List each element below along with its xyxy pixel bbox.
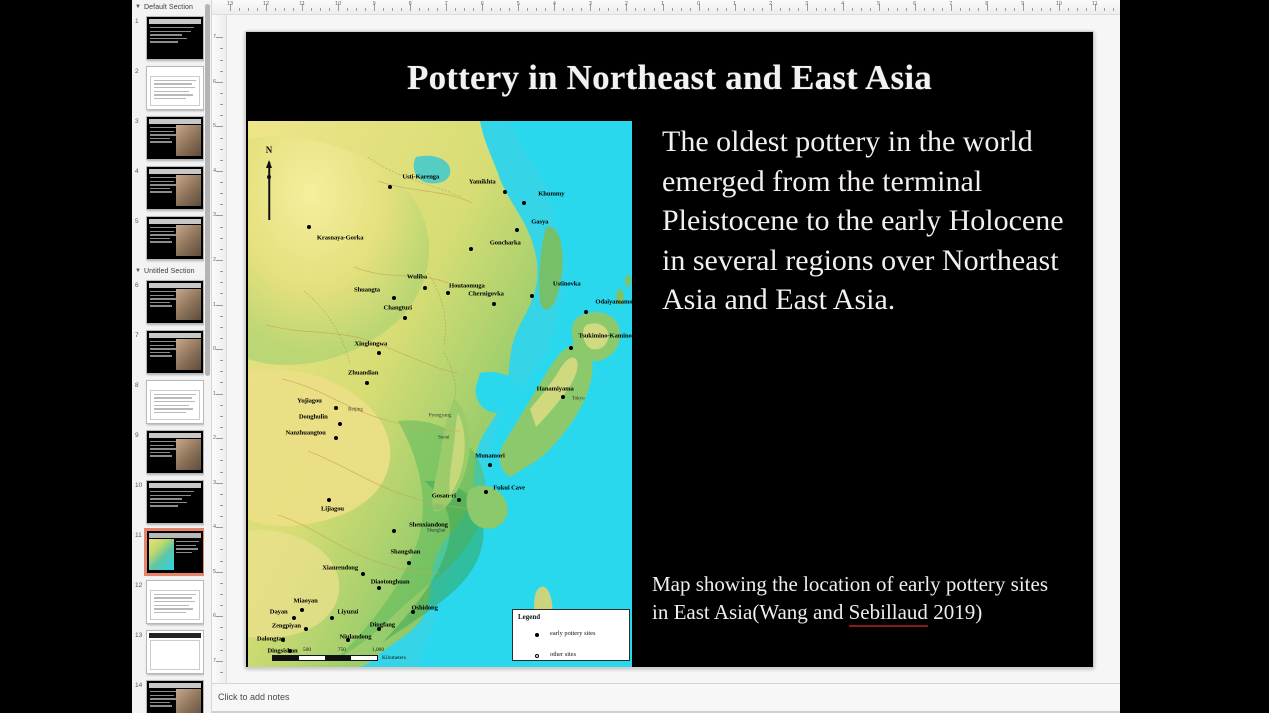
map-site-marker (522, 201, 526, 205)
slide-number: 4 (135, 168, 139, 175)
legend-entry-other-sites: other sites (532, 645, 624, 663)
slide-number: 7 (135, 332, 139, 339)
scale-bar-labels: 500 750 1,000 (272, 647, 378, 655)
slide-thumbnail-row[interactable]: 11 (132, 528, 211, 578)
slide-number: 2 (135, 68, 139, 75)
slide-canvas-area[interactable]: Pottery in Northeast and East Asia (227, 15, 1120, 683)
slide-thumbnail-row[interactable]: 13 (132, 628, 211, 678)
ruler-label: 7 (213, 658, 216, 664)
map-site-label: Yamikhta (469, 179, 496, 186)
slide-thumbnail-row[interactable]: 7 (132, 328, 211, 378)
navigator-scrollbar-thumb[interactable] (205, 4, 210, 376)
map-site-marker (388, 185, 392, 189)
slide-thumbnail-11[interactable] (146, 530, 204, 574)
ruler-label: 4 (213, 168, 216, 174)
ruler-label: 0 (213, 346, 216, 352)
caption-misspelled-word: Sebillaud (849, 600, 928, 627)
map-site-label: Diaotonghuan (371, 579, 410, 586)
map-site-label: Fukui Cave (493, 485, 525, 492)
map-site-label: Tsukimino-Kamino (579, 333, 632, 340)
map-site-label: Niulandong (340, 633, 372, 640)
slide-number: 11 (135, 532, 142, 539)
scale-bar-unit: Kilometers (382, 655, 406, 661)
slide-number: 9 (135, 432, 139, 439)
map-site-marker (327, 498, 331, 502)
presentation-app-window: ▼Default Section12345▼Untitled Section67… (132, 0, 1120, 713)
notes-placeholder-text[interactable]: Click to add notes (218, 692, 290, 702)
slide-body-text[interactable]: The oldest pottery in the world emerged … (662, 122, 1072, 320)
ruler-label: 5 (877, 1, 880, 7)
ruler-label: 5 (517, 1, 520, 7)
map-city-label: Tokyo (572, 397, 585, 402)
ruler-label: 5 (213, 569, 216, 575)
map-site-marker (300, 608, 304, 612)
map-site-label: Xinglongwa (355, 340, 388, 347)
slide-canvas[interactable]: Pottery in Northeast and East Asia (245, 31, 1094, 668)
map-site-label: Munamori (475, 452, 505, 459)
slide-number: 14 (135, 682, 142, 689)
ruler-label: 11 (1092, 1, 1098, 7)
map-site-marker (334, 436, 338, 440)
slide-thumbnail-13[interactable] (146, 630, 204, 674)
ruler-label: 10 (1056, 1, 1062, 7)
map-site-marker (361, 572, 365, 576)
map-site-marker (492, 302, 496, 306)
map-site-label: Donghulin (299, 414, 328, 421)
slide-thumbnail-row[interactable]: 6 (132, 278, 211, 328)
ruler-label: 3 (589, 1, 592, 7)
map-site-label: Wuliba (407, 274, 427, 281)
slide-thumbnail-row[interactable]: 14 (132, 678, 211, 713)
scale-label: 750 (338, 647, 346, 653)
map-site-marker (469, 247, 473, 251)
map-city-label: Shanghai (427, 528, 446, 533)
map-site-label: Miaoyan (293, 598, 317, 605)
horizontal-ruler[interactable]: 13121110987654321012345678910111213 (212, 0, 1120, 15)
slide-thumbnail-12[interactable] (146, 580, 204, 624)
map-site-label: Liyuzui (337, 609, 358, 616)
map-site-label: Yujiagou (297, 397, 322, 404)
slide-number: 3 (135, 118, 139, 125)
map-site-marker (338, 422, 342, 426)
slide-thumbnail-2[interactable] (146, 66, 204, 110)
scale-bar-segments (272, 655, 378, 661)
slide-thumbnail-row[interactable]: 3 (132, 114, 211, 164)
ruler-label: 2 (213, 435, 216, 441)
ruler-label: 3 (805, 1, 808, 7)
map-site-marker (403, 316, 407, 320)
map-scale-bar: 500 750 1,000 Kilometers (272, 647, 378, 661)
map-site-label: Krasnaya-Gorka (317, 235, 364, 242)
map-site-marker (334, 406, 338, 410)
ruler-label: 10 (335, 1, 341, 7)
map-legend: Legend early pottery sites other sites (512, 609, 630, 661)
slide-thumbnail-row[interactable]: 4 (132, 164, 211, 214)
map-site-label: Usti-Karenga (402, 174, 439, 181)
map-site-marker (584, 310, 588, 314)
ruler-label: 6 (481, 1, 484, 7)
map-site-marker (392, 529, 396, 533)
slide-thumbnail-row[interactable]: 9 (132, 428, 211, 478)
slide-number: 6 (135, 282, 139, 289)
map-site-marker (569, 346, 573, 350)
map-site-label: Changtuzi (384, 305, 412, 312)
map-city-label: Pyongyang (429, 413, 452, 418)
map-site-marker (377, 351, 381, 355)
map-site-label: Odaiyamamoto (595, 299, 632, 306)
chevron-down-icon[interactable]: ▼ (135, 4, 144, 10)
map-site-label: Dalongtan (257, 635, 285, 642)
map-site-marker (561, 395, 565, 399)
legend-entry-early-pottery-sites: early pottery sites (532, 624, 624, 642)
map-site-marker (365, 381, 369, 385)
slide-number: 8 (135, 382, 139, 389)
map-site-label: Shangshan (390, 549, 420, 556)
map-site-label: Zengpiyan (272, 622, 301, 629)
section-label: Untitled Section (144, 268, 195, 275)
section-label: Default Section (144, 4, 193, 11)
ruler-label: 2 (769, 1, 772, 7)
map-site-marker (446, 291, 450, 295)
slide-thumbnail-row[interactable]: 12 (132, 578, 211, 628)
ruler-label: 4 (841, 1, 844, 7)
map-site-marker (407, 561, 411, 565)
slide-thumbnail-9[interactable] (146, 430, 204, 474)
map-site-label: Oshidong (411, 605, 437, 612)
slide-thumbnail-4[interactable] (146, 166, 204, 210)
ruler-label: 2 (213, 257, 216, 263)
map-city-label: Beijing (348, 408, 363, 413)
north-arrow-icon: N (262, 149, 276, 223)
map-site-marker (330, 616, 334, 620)
slide-thumbnail-row[interactable]: 10 (132, 478, 211, 528)
ruler-label: 7 (445, 1, 448, 7)
ruler-label: 9 (373, 1, 376, 7)
legend-title: Legend (518, 613, 624, 621)
map-site-marker (307, 225, 311, 229)
map-site-marker (377, 586, 381, 590)
slide-thumbnail-1[interactable] (146, 16, 204, 60)
filled-dot-icon (532, 624, 542, 642)
section-header[interactable]: ▼Default Section (132, 0, 211, 14)
map-site-label: Houtaomuga (449, 282, 485, 289)
ruler-label: 13 (227, 1, 233, 7)
ruler-label: 12 (263, 1, 269, 7)
map-site-marker (515, 228, 519, 232)
slide-number: 5 (135, 218, 139, 225)
ruler-label: 8 (409, 1, 412, 7)
letterbox-right (1120, 0, 1269, 713)
map-site-marker (503, 190, 507, 194)
ruler-label: 6 (213, 79, 216, 85)
map-site-marker (488, 463, 492, 467)
map-site-marker (484, 490, 488, 494)
ruler-label: 1 (661, 1, 664, 7)
map-site-label: Dingfang (370, 621, 395, 628)
slide-thumbnail-list[interactable]: ▼Default Section12345▼Untitled Section67… (132, 0, 211, 713)
map-site-label: Gosan-ri (432, 492, 456, 499)
slide-thumbnail-row[interactable]: 2 (132, 64, 211, 114)
scale-label: 1,000 (372, 647, 384, 653)
map-site-marker (392, 296, 396, 300)
navigator-scrollbar-track[interactable] (204, 0, 211, 713)
north-arrow-pivot (267, 175, 271, 179)
map-site-label: Ustinovka (553, 281, 581, 288)
speaker-notes-pane[interactable]: Click to add notes (212, 683, 1120, 713)
ruler-label: 8 (985, 1, 988, 7)
slide-thumbnail-14[interactable] (146, 680, 204, 713)
scale-label: 500 (303, 647, 311, 653)
chevron-down-icon[interactable]: ▼ (135, 268, 144, 274)
slide-thumbnail-7[interactable] (146, 330, 204, 374)
ruler-label: 1 (733, 1, 736, 7)
map-terrain-svg (248, 121, 632, 667)
slide-title[interactable]: Pottery in Northeast and East Asia (246, 58, 1093, 98)
north-arrow-shaft (268, 162, 270, 220)
slide-thumbnail-row[interactable]: 1 (132, 14, 211, 64)
map-site-label: Chernigovka (468, 290, 504, 297)
vertical-ruler[interactable]: 765432101234567 (212, 15, 227, 683)
slide-thumbnail-row[interactable]: 5 (132, 214, 211, 264)
ruler-label: 7 (213, 34, 216, 40)
ruler-label: 4 (553, 1, 556, 7)
open-circle-icon (532, 645, 542, 663)
slide-number: 10 (135, 482, 142, 489)
map-site-label: Dayan (270, 609, 288, 616)
map-site-marker (530, 294, 534, 298)
ruler-label: 6 (913, 1, 916, 7)
map-site-label: Nanzhuangtou (285, 430, 325, 437)
caption-part-2: 2019) (928, 600, 982, 624)
map-city-label: Seoul (438, 435, 449, 440)
slide-navigator-panel[interactable]: ▼Default Section12345▼Untitled Section67… (132, 0, 212, 713)
map-site-label: Khummy (538, 190, 564, 197)
slide-thumbnail-3[interactable] (146, 116, 204, 160)
slide-number: 13 (135, 632, 142, 639)
ruler-label: 6 (213, 613, 216, 619)
slide-number: 1 (135, 18, 139, 25)
slide-caption-text[interactable]: Map showing the location of early potter… (652, 570, 1067, 627)
legend-entry-label: other sites (550, 651, 576, 658)
map-site-marker (292, 616, 296, 620)
slide-thumbnail-5[interactable] (146, 216, 204, 260)
map-site-label: Shuangta (354, 287, 380, 294)
map-site-label: Lijiagou (321, 505, 344, 512)
slide-number: 12 (135, 582, 142, 589)
slide-thumbnail-8[interactable] (146, 380, 204, 424)
ruler-label: 3 (213, 212, 216, 218)
map-site-marker (457, 498, 461, 502)
ruler-label: 9 (1021, 1, 1024, 7)
ruler-label: 11 (299, 1, 305, 7)
slide-thumbnail-10[interactable] (146, 480, 204, 524)
map-site-marker (304, 627, 308, 631)
ruler-label: 4 (213, 524, 216, 530)
ruler-label: 5 (213, 123, 216, 129)
map-site-label: Hanamiyama (537, 385, 574, 392)
north-arrow-label: N (266, 145, 273, 155)
ruler-label: 0 (697, 1, 700, 7)
ruler-label: 7 (949, 1, 952, 7)
ruler-label: 3 (213, 480, 216, 486)
slide-editor-area: 13121110987654321012345678910111213 7654… (212, 0, 1120, 713)
map-image[interactable]: N Usti-KarengaKrasnaya-GorkaYamikhtaKhum… (248, 121, 632, 667)
map-site-label: Xianrendong (322, 564, 358, 571)
slide-thumbnail-6[interactable] (146, 280, 204, 324)
section-header[interactable]: ▼Untitled Section (132, 264, 211, 278)
ruler-label: 1 (213, 302, 216, 308)
ruler-label: 1 (213, 391, 216, 397)
map-site-marker (423, 286, 427, 290)
letterbox-left (0, 0, 132, 713)
slide-thumbnail-row[interactable]: 8 (132, 378, 211, 428)
map-site-label: Gasya (531, 219, 548, 226)
map-site-label: Zhuandian (348, 370, 378, 377)
legend-entry-label: early pottery sites (550, 630, 595, 637)
ruler-label: 2 (625, 1, 628, 7)
map-site-label: Goncharka (490, 239, 521, 246)
